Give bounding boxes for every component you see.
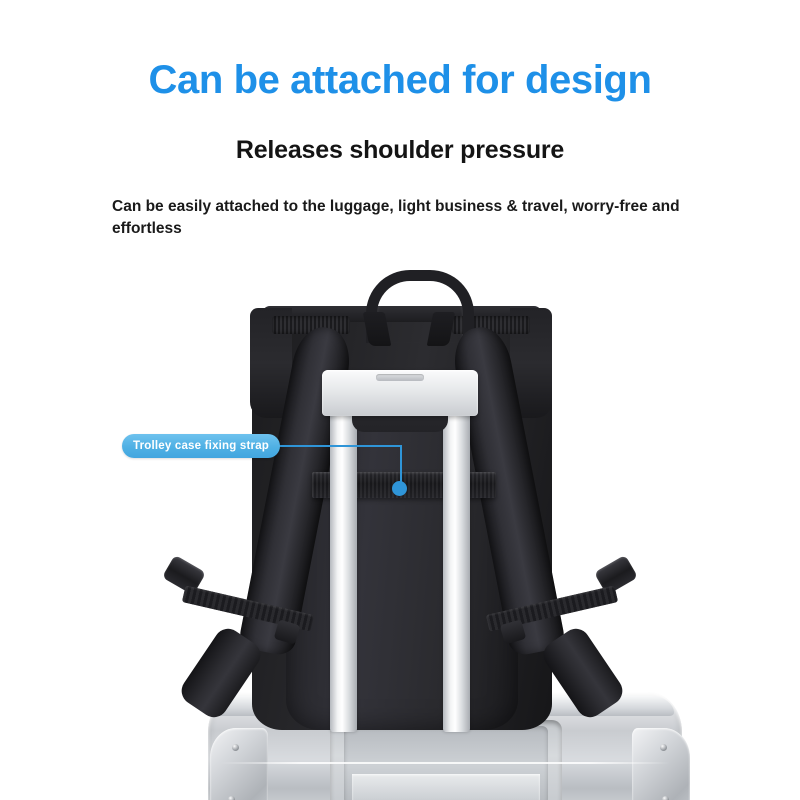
- product-photo: [0, 250, 800, 800]
- callout-label-trolley-strap: Trolley case fixing strap: [122, 434, 280, 458]
- trolley-release-button[interactable]: [376, 374, 424, 381]
- suitcase-rivet: [662, 796, 669, 800]
- trolley-bar-left: [330, 408, 357, 732]
- page-description: Can be easily attached to the luggage, l…: [112, 196, 690, 241]
- suitcase-rivet: [232, 744, 239, 751]
- suitcase-corner-protector-left: [210, 728, 268, 800]
- callout-target-dot: [392, 481, 407, 496]
- page-subheadline: Releases shoulder pressure: [0, 136, 800, 165]
- suitcase-rivet: [660, 744, 667, 751]
- suitcase-corner-protector-right: [632, 728, 690, 800]
- callout-leader-horizontal: [268, 445, 402, 447]
- suitcase-handle-well-rim: [352, 774, 540, 800]
- promo-page: Can be attached for design Releases shou…: [0, 0, 800, 800]
- page-headline: Can be attached for design: [0, 58, 800, 103]
- suitcase-seam: [220, 762, 670, 764]
- suitcase-rivet: [228, 796, 235, 800]
- trolley-bar-right: [443, 408, 470, 732]
